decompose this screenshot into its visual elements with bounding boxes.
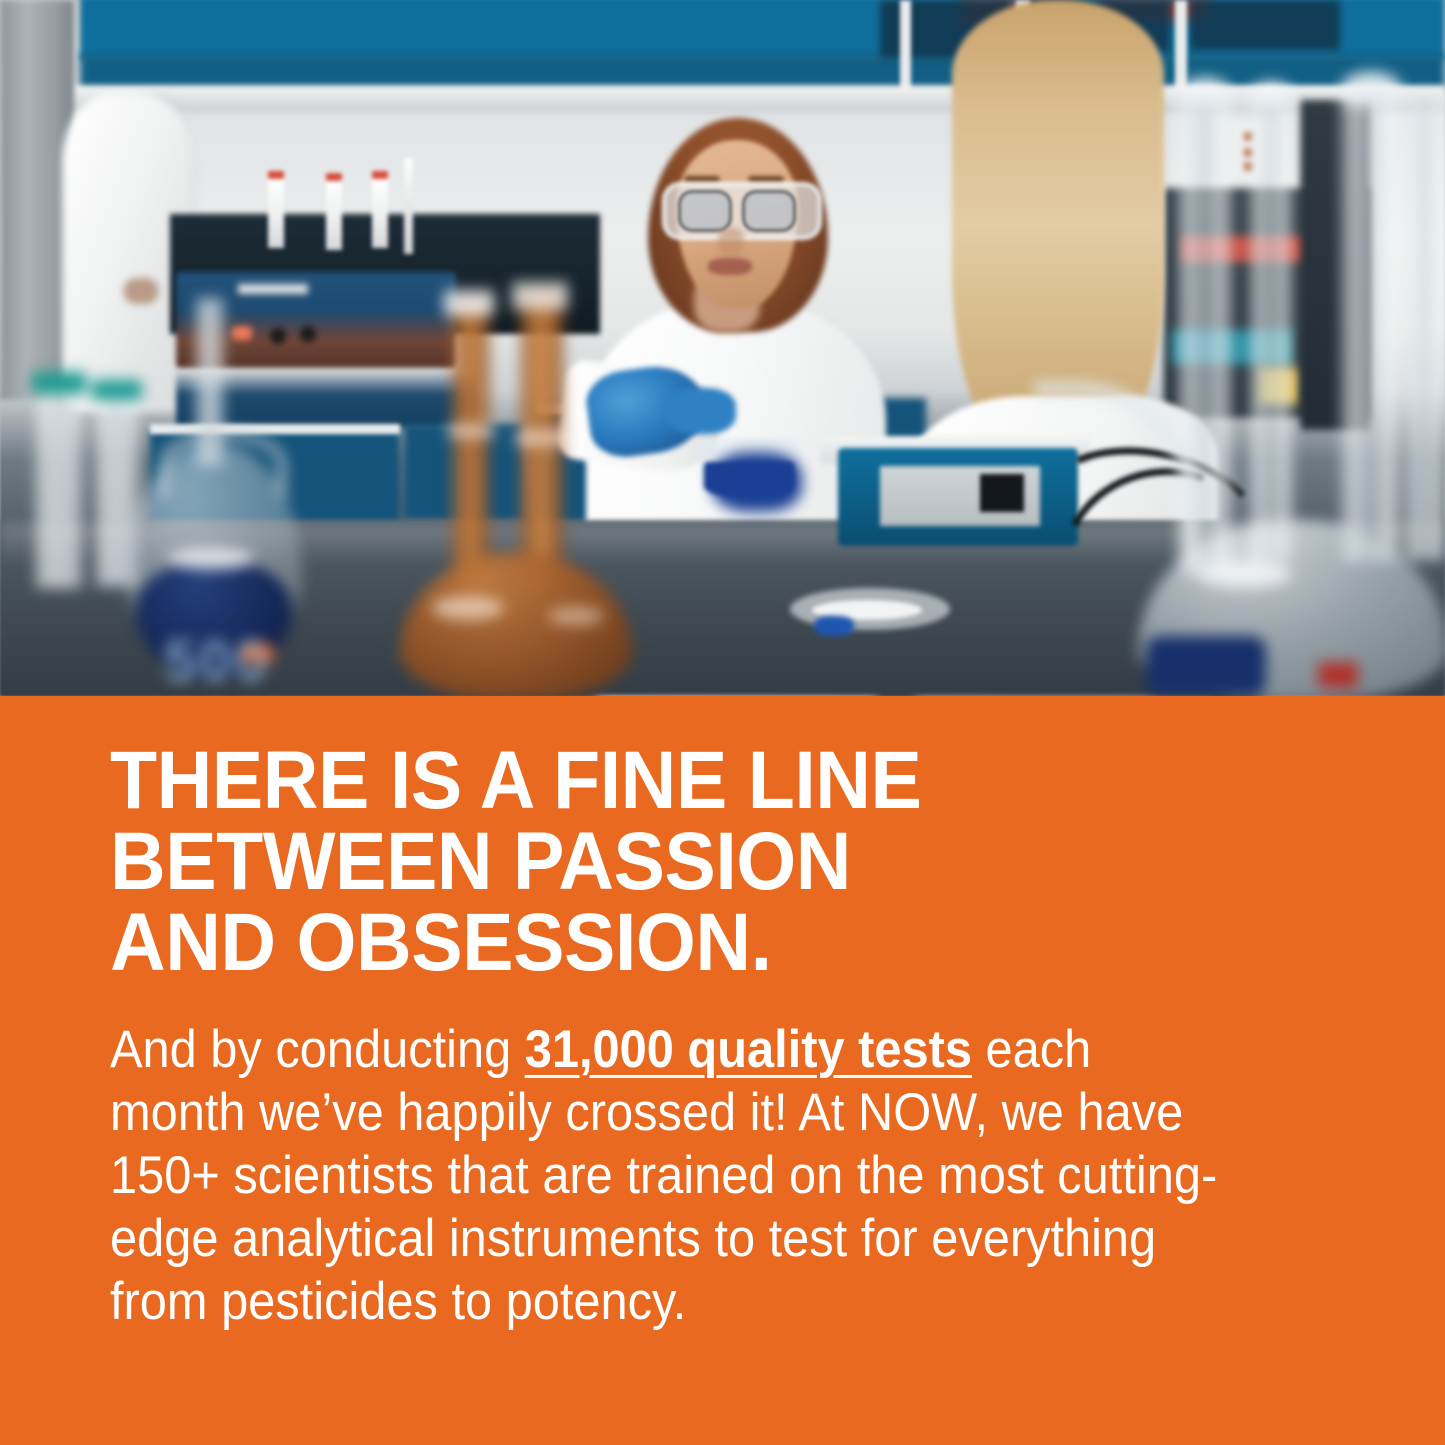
bottle-teal-cap: [32, 372, 86, 394]
analyzer-screen: [980, 474, 1024, 512]
glass-column: [1248, 100, 1294, 560]
glass-column-stopper: [1248, 82, 1294, 112]
cabinet-door-frame: [900, 0, 911, 92]
eyeglass-lens: [742, 190, 796, 232]
panel-content: THERE IS A FINE LINE BETWEEN PASSION AND…: [110, 740, 1325, 1333]
eyeglass-lens: [678, 190, 732, 232]
tube-cap: [372, 171, 388, 179]
reagent-bottle: [36, 388, 82, 588]
body-copy: And by conducting 31,000 quality tests e…: [110, 1018, 1228, 1333]
flask-highlight: [1196, 560, 1292, 588]
amber-flask-stopper: [512, 282, 568, 310]
bottle-teal-cap: [92, 380, 142, 400]
instrument-display: [238, 284, 308, 294]
upper-cabinet-band-lower: [80, 54, 1445, 88]
instrument-indicator-lamp: [232, 326, 252, 340]
cabinet-shelf-ledge: [60, 86, 1445, 112]
test-tube: [372, 178, 388, 248]
flask-highlight: [168, 548, 254, 570]
quality-tests-highlight: 31,000 quality tests: [525, 1020, 972, 1079]
glass-column: [1340, 92, 1402, 562]
amber-flask-stopper: [444, 290, 494, 316]
pipette: [404, 158, 413, 254]
tube-cap: [326, 173, 342, 181]
blue-nitrile-glove-fingers: [666, 388, 736, 434]
tube-cap: [268, 171, 284, 179]
glass-column: [1406, 100, 1445, 560]
blue-bottle-cap: [814, 616, 854, 636]
flask-volume-label: 500: [142, 628, 292, 695]
cabinet-glass-pane: [1190, 0, 1340, 50]
test-tube: [326, 180, 342, 250]
orange-text-panel: THERE IS A FINE LINE BETWEEN PASSION AND…: [0, 696, 1445, 1445]
body-copy-before: And by conducting: [110, 1020, 525, 1079]
promo-canvas: 500 THERE: [0, 0, 1445, 1445]
center-scientist-nose: [718, 228, 744, 256]
red-label-item: [1318, 662, 1358, 688]
test-tube: [268, 178, 284, 248]
amber-flask-highlight: [432, 596, 504, 620]
left-figure-hand: [124, 278, 158, 304]
glass-column-stopper: [1178, 78, 1232, 112]
amber-flask-graduation-ring: [448, 424, 494, 438]
headline: THERE IS A FINE LINE BETWEEN PASSION AND…: [110, 740, 1252, 984]
amber-flask-graduation-ring: [516, 430, 568, 446]
blue-liquid-blur: [712, 452, 802, 512]
glass-column-stopper: [1340, 72, 1402, 108]
amber-flask-neck: [452, 300, 490, 590]
cabinet-edge: [150, 424, 400, 434]
instrument-knob: [300, 326, 316, 342]
cabinet-door-frame: [1175, 0, 1187, 92]
center-scientist-mouth: [708, 258, 752, 275]
dark-blue-bottle: [1146, 636, 1266, 696]
instrument-knob: [270, 328, 286, 344]
lab-photo: 500: [0, 0, 1445, 696]
amber-flask-highlight: [548, 606, 604, 626]
